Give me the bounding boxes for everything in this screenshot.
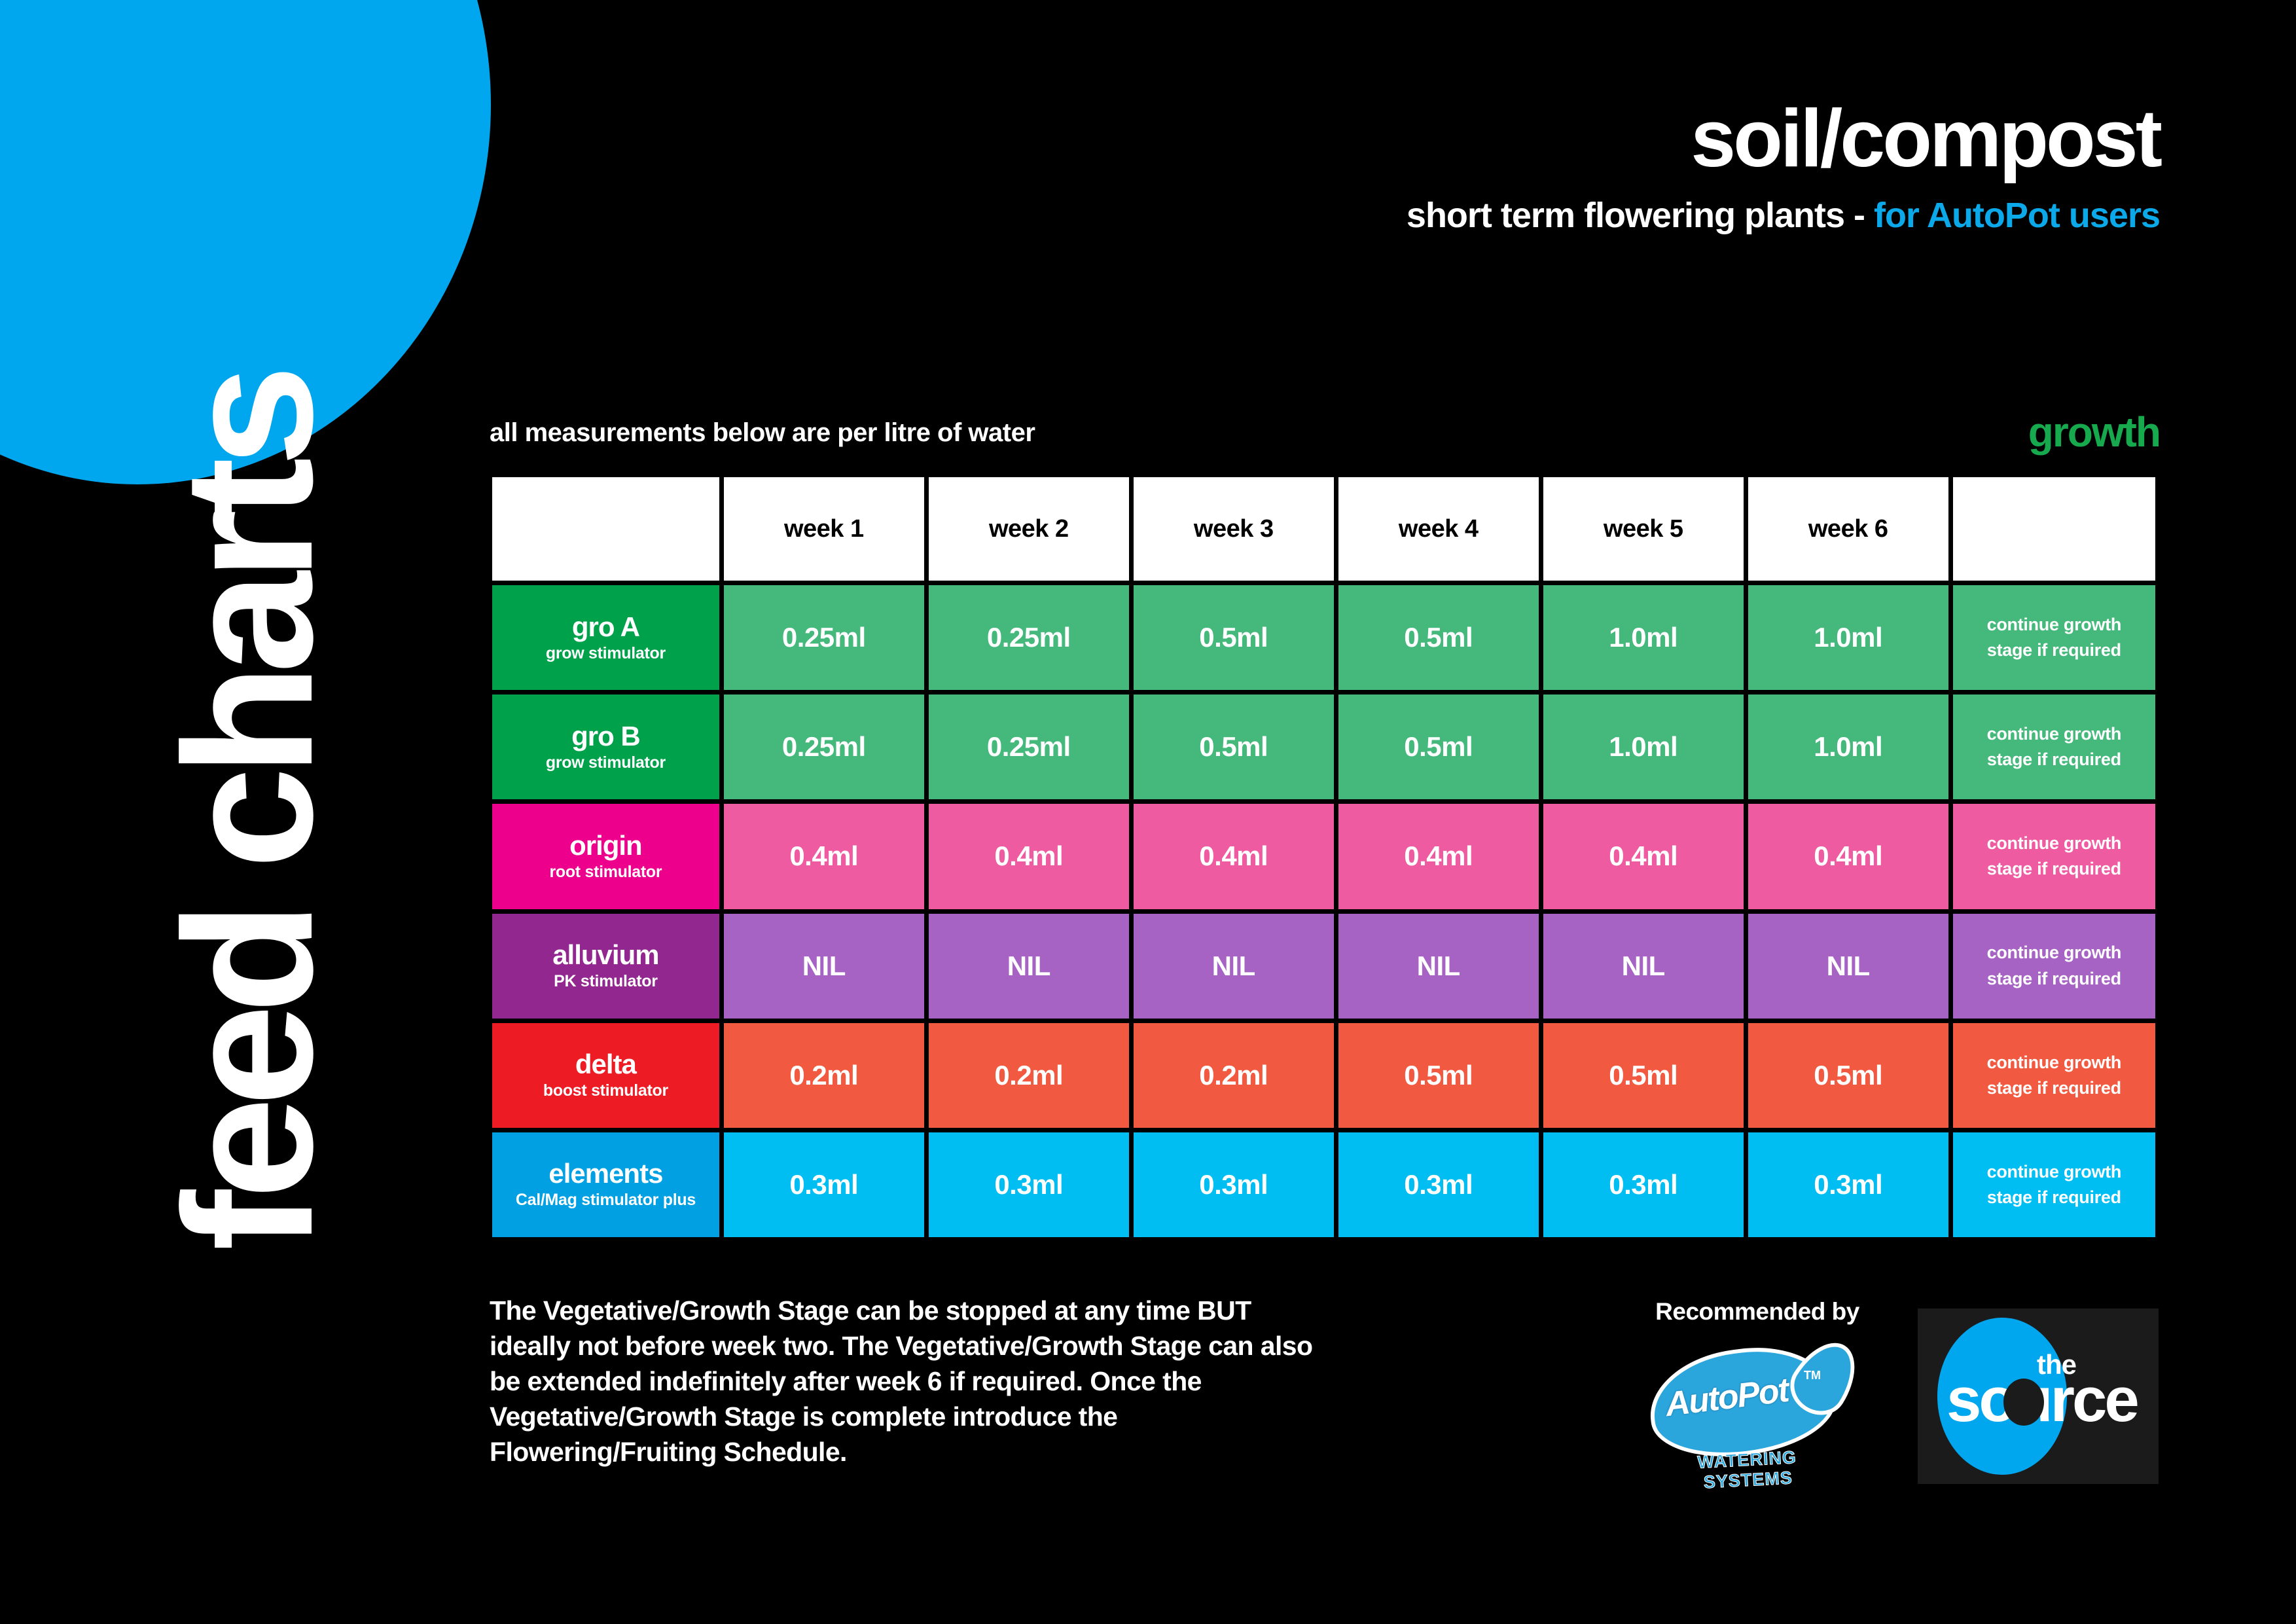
dose-cell: 0.5ml [1338, 585, 1539, 690]
source-o-counter [2003, 1379, 2044, 1426]
table-row: gro Agrow stimulator0.25ml0.25ml0.5ml0.5… [492, 585, 2155, 690]
dose-value: 0.4ml [1609, 840, 1677, 871]
dose-cell: 0.5ml [1338, 695, 1539, 799]
page-title: soil/compost [488, 98, 2160, 179]
autopot-logo: AutoPot TM WATERING SYSTEMS [1644, 1335, 1880, 1485]
product-subtitle: Cal/Mag stimulator plus [492, 1190, 719, 1210]
dose-value: 0.5ml [1404, 622, 1473, 653]
dose-cell: 0.5ml [1134, 695, 1334, 799]
dose-value: NIL [1212, 950, 1255, 981]
dose-value: 0.25ml [987, 622, 1071, 653]
measurement-note: all measurements below are per litre of … [490, 418, 1035, 448]
product-subtitle: grow stimulator [492, 753, 719, 772]
continue-note-line2: stage if required [1953, 966, 2155, 992]
dose-cell: 0.3ml [1134, 1132, 1334, 1237]
dose-value: NIL [1007, 950, 1050, 981]
dose-cell: 0.2ml [724, 1023, 924, 1128]
dose-value: 0.25ml [987, 731, 1071, 762]
product-name-cell: gro Bgrow stimulator [492, 695, 719, 799]
dose-value: 0.3ml [994, 1169, 1063, 1200]
dose-cell: 0.3ml [724, 1132, 924, 1237]
dose-value: 0.5ml [1404, 1060, 1473, 1091]
dose-cell: 0.4ml [1543, 804, 1744, 909]
product-subtitle: PK stimulator [492, 971, 719, 991]
product-name: elements [492, 1159, 719, 1188]
continue-note-line1: continue growth [1953, 940, 2155, 965]
dose-cell: 0.5ml [1748, 1023, 1948, 1128]
source-logo-the: the [2037, 1349, 2076, 1380]
dose-cell: NIL [1134, 914, 1334, 1019]
product-name: delta [492, 1050, 719, 1079]
product-name-cell: deltaboost stimulator [492, 1023, 719, 1128]
dose-cell: 0.25ml [724, 695, 924, 799]
continue-note-cell: continue growthstage if required [1953, 695, 2155, 799]
page-subtitle: short term flowering plants - for AutoPo… [488, 196, 2160, 235]
trademark-mark: TM [1804, 1369, 1821, 1382]
header-cell-label: week 3 [1194, 515, 1274, 543]
header-cell-week-3: week 3 [1134, 477, 1334, 581]
continue-note-line1: continue growth [1953, 831, 2155, 856]
dose-value: 0.3ml [789, 1169, 858, 1200]
header-cell-week-1: week 1 [724, 477, 924, 581]
dose-value: 0.4ml [1814, 840, 1882, 871]
table-row: deltaboost stimulator0.2ml0.2ml0.2ml0.5m… [492, 1023, 2155, 1128]
header-cell-week-4: week 4 [1338, 477, 1539, 581]
product-name-cell: elementsCal/Mag stimulator plus [492, 1132, 719, 1237]
dose-cell: 0.3ml [1338, 1132, 1539, 1237]
dose-value: 0.3ml [1814, 1169, 1882, 1200]
dose-value: 0.25ml [782, 622, 866, 653]
continue-note-line2: stage if required [1953, 747, 2155, 772]
product-name-cell: gro Agrow stimulator [492, 585, 719, 690]
dose-value: NIL [1622, 950, 1665, 981]
product-subtitle: grow stimulator [492, 643, 719, 663]
header-cell-week-2: week 2 [929, 477, 1129, 581]
dose-value: 0.5ml [1609, 1060, 1677, 1091]
continue-note-cell: continue growthstage if required [1953, 914, 2155, 1019]
dose-value: 0.3ml [1199, 1169, 1268, 1200]
continue-note-line2: stage if required [1953, 856, 2155, 882]
dose-value: 0.4ml [789, 840, 858, 871]
recommended-by-label: Recommended by [1617, 1298, 1898, 1326]
dose-cell: NIL [929, 914, 1129, 1019]
header-cell-label: week 6 [1808, 515, 1888, 543]
table-meta-row: all measurements below are per litre of … [490, 391, 2160, 448]
autopot-tagline: WATERING SYSTEMS [1655, 1445, 1840, 1496]
header-cell-label: week 2 [989, 515, 1069, 543]
dose-value: 0.5ml [1814, 1060, 1882, 1091]
dose-value: 1.0ml [1609, 731, 1677, 762]
dose-cell: 0.3ml [929, 1132, 1129, 1237]
product-name-cell: originroot stimulator [492, 804, 719, 909]
dose-value: 0.3ml [1609, 1169, 1677, 1200]
continue-note-line2: stage if required [1953, 1185, 2155, 1210]
table-row: gro Bgrow stimulator0.25ml0.25ml0.5ml0.5… [492, 695, 2155, 799]
dose-value: 1.0ml [1609, 622, 1677, 653]
dose-cell: 0.25ml [929, 585, 1129, 690]
dose-value: NIL [802, 950, 846, 981]
dose-cell: 1.0ml [1543, 695, 1744, 799]
dose-value: 1.0ml [1814, 731, 1882, 762]
product-name-cell: alluviumPK stimulator [492, 914, 719, 1019]
continue-note-line1: continue growth [1953, 1050, 2155, 1075]
header-cell-label: week 1 [784, 515, 864, 543]
dose-value: NIL [1417, 950, 1460, 981]
table-row: alluviumPK stimulatorNILNILNILNILNILNILc… [492, 914, 2155, 1019]
header-cell-label: week 4 [1399, 515, 1479, 543]
blue-blob-decoration [0, 0, 491, 484]
continue-note-line1: continue growth [1953, 612, 2155, 638]
dose-value: 0.2ml [1199, 1060, 1268, 1091]
page-header: soil/compost short term flowering plants… [488, 98, 2160, 235]
dose-cell: NIL [1338, 914, 1539, 1019]
dose-value: 0.5ml [1199, 731, 1268, 762]
continue-note-line2: stage if required [1953, 1075, 2155, 1101]
product-name: gro A [492, 613, 719, 641]
dose-cell: 0.4ml [1748, 804, 1948, 909]
dose-cell: 0.25ml [929, 695, 1129, 799]
dose-value: 0.3ml [1404, 1169, 1473, 1200]
header-cell-week-5: week 5 [1543, 477, 1744, 581]
continue-note-cell: continue growthstage if required [1953, 1023, 2155, 1128]
dose-cell: NIL [1543, 914, 1744, 1019]
dose-cell: 1.0ml [1543, 585, 1744, 690]
dose-value: 0.4ml [994, 840, 1063, 871]
continue-note-line1: continue growth [1953, 721, 2155, 747]
continue-note-line2: stage if required [1953, 638, 2155, 663]
page-subtitle-accent: for AutoPot users [1874, 196, 2160, 235]
dose-value: 0.5ml [1404, 731, 1473, 762]
dose-cell: 1.0ml [1748, 585, 1948, 690]
dose-cell: 0.25ml [724, 585, 924, 690]
continue-note-line1: continue growth [1953, 1159, 2155, 1185]
product-name: gro B [492, 722, 719, 751]
continue-note-cell: continue growthstage if required [1953, 804, 2155, 909]
continue-note-cell: continue growthstage if required [1953, 1132, 2155, 1237]
dose-cell: 0.3ml [1543, 1132, 1744, 1237]
dose-cell: 1.0ml [1748, 695, 1948, 799]
dose-cell: 0.4ml [1338, 804, 1539, 909]
dose-cell: 0.2ml [929, 1023, 1129, 1128]
dose-cell: 0.5ml [1543, 1023, 1744, 1128]
continue-note-cell: continue growthstage if required [1953, 585, 2155, 690]
feed-schedule-table: week 1week 2week 3week 4week 5week 6gro … [488, 473, 2160, 1242]
table-row: originroot stimulator0.4ml0.4ml0.4ml0.4m… [492, 804, 2155, 909]
dose-value: 0.25ml [782, 731, 866, 762]
dose-cell: NIL [1748, 914, 1948, 1019]
dose-value: 0.5ml [1199, 622, 1268, 653]
dose-value: 0.2ml [994, 1060, 1063, 1091]
footer-logos: Recommended by AutoPot TM WATERING SYSTE… [1610, 1293, 2160, 1502]
dose-cell: 0.5ml [1338, 1023, 1539, 1128]
dose-value: NIL [1827, 950, 1870, 981]
brand-wordmark-text: feed charts [157, 374, 340, 1251]
header-cell-label: week 5 [1604, 515, 1683, 543]
table-row: elementsCal/Mag stimulator plus0.3ml0.3m… [492, 1132, 2155, 1237]
dose-cell: 0.4ml [724, 804, 924, 909]
footer-note: The Vegetative/Growth Stage can be stopp… [490, 1293, 1334, 1470]
dose-value: 0.4ml [1404, 840, 1473, 871]
stage-label: growth [2028, 411, 2160, 453]
dose-cell: 0.2ml [1134, 1023, 1334, 1128]
product-name: origin [492, 831, 719, 860]
dose-value: 1.0ml [1814, 622, 1882, 653]
product-subtitle: root stimulator [492, 862, 719, 882]
dose-cell: 0.4ml [929, 804, 1129, 909]
dose-cell: 0.5ml [1134, 585, 1334, 690]
header-cell-week-6: week 6 [1748, 477, 1948, 581]
header-cell-blank-right [1953, 477, 2155, 581]
the-source-logo: source the [1918, 1308, 2159, 1484]
header-cell-blank-left [492, 477, 719, 581]
page-subtitle-main: short term flowering plants - [1407, 196, 1874, 235]
dose-cell: 0.3ml [1748, 1132, 1948, 1237]
dose-cell: 0.4ml [1134, 804, 1334, 909]
product-subtitle: boost stimulator [492, 1081, 719, 1100]
dose-value: 0.2ml [789, 1060, 858, 1091]
table-header-row: week 1week 2week 3week 4week 5week 6 [492, 477, 2155, 581]
product-name: alluvium [492, 941, 719, 969]
dose-value: 0.4ml [1199, 840, 1268, 871]
dose-cell: NIL [724, 914, 924, 1019]
